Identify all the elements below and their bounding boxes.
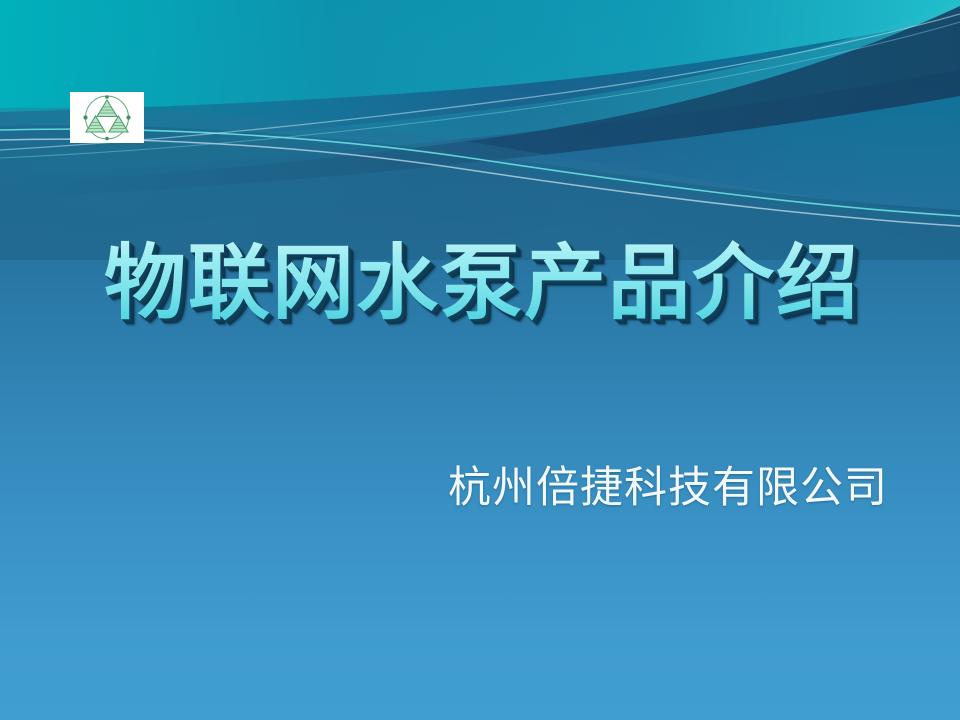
wave-decoration [0,0,960,260]
pyramid-left [86,116,105,132]
background-tint [0,0,960,720]
slide-subtitle: 杭州倍捷科技有限公司 [260,462,888,514]
slide-title: 物联网水泵产品介绍 [104,232,884,342]
title-slide: 物联网水泵产品介绍 物联网水泵产品介绍 杭州倍捷科技有限公司 [0,0,960,720]
pyramid-top [97,100,117,117]
company-logo [70,92,144,143]
pyramid-right [109,116,128,132]
three-pyramids-circle-icon [70,92,144,143]
